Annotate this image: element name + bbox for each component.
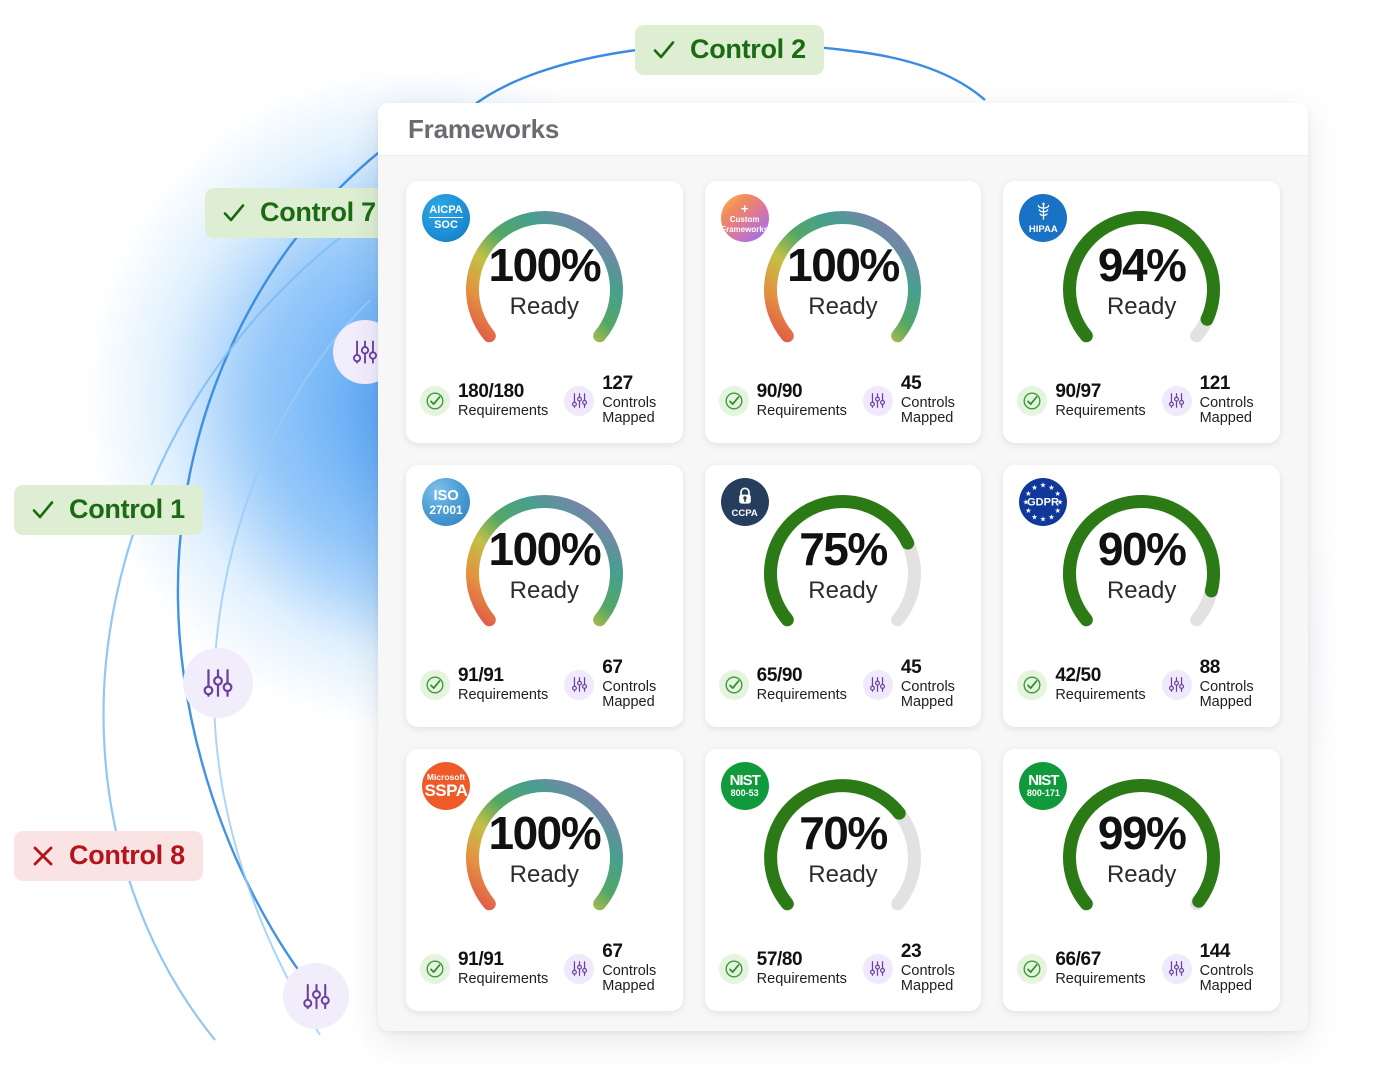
card-stats: 180/180Requirements127Controls Mapped (420, 374, 671, 427)
requirements-label: Requirements (1055, 972, 1145, 988)
card-stats: 91/91Requirements67Controls Mapped (420, 942, 671, 995)
requirements-value: 42/50 (1055, 666, 1145, 687)
framework-card-iso-27001[interactable]: ISO27001100%Ready91/91Requirements67Cont… (406, 465, 683, 727)
requirements-value: 57/80 (757, 950, 847, 971)
requirements-label: Requirements (1055, 404, 1145, 420)
gauge: 100%Ready (420, 761, 669, 953)
requirements-label: Requirements (1055, 688, 1145, 704)
gauge-ready-label: Ready (457, 295, 632, 319)
control-badge-label: Control 8 (69, 840, 185, 871)
requirements-check-icon (1017, 386, 1047, 416)
control-badge-label: Control 7 (260, 197, 376, 228)
controls-mapped-value: 45 (901, 374, 969, 395)
requirements-check-icon (719, 670, 749, 700)
stat-controls-mapped: 45Controls Mapped (863, 658, 969, 711)
check-icon (651, 37, 677, 63)
requirements-check-icon (1017, 670, 1047, 700)
stat-controls-mapped: 67Controls Mapped (564, 658, 670, 711)
card-stats: 57/80Requirements23Controls Mapped (719, 942, 970, 995)
gauge-percent: 94% (1054, 242, 1229, 288)
requirements-check-icon (719, 386, 749, 416)
gauge: 100%Ready (420, 193, 669, 385)
controls-mapped-label: Controls Mapped (901, 396, 969, 427)
controls-mapped-value: 67 (602, 942, 670, 963)
requirements-value: 180/180 (458, 382, 548, 403)
controls-mapped-value: 23 (901, 942, 969, 963)
gauge-percent: 99% (1054, 810, 1229, 856)
gauge-ready-label: Ready (1054, 863, 1229, 887)
controls-mapped-sliders-icon (1162, 954, 1192, 984)
control-badge-control-7[interactable]: Control 7 (205, 188, 394, 238)
gauge-percent: 70% (755, 810, 930, 856)
control-badge-label: Control 2 (690, 34, 806, 65)
gauge-ready-label: Ready (457, 863, 632, 887)
controls-mapped-value: 127 (602, 374, 670, 395)
requirements-label: Requirements (458, 404, 548, 420)
stat-requirements: 90/90Requirements (719, 374, 847, 427)
gauge-ready-label: Ready (755, 579, 930, 603)
controls-mapped-sliders-icon (564, 670, 594, 700)
framework-card-ccpa[interactable]: CCPA75%Ready65/90Requirements45Controls … (705, 465, 982, 727)
control-badge-label: Control 1 (69, 494, 185, 525)
stat-controls-mapped: 67Controls Mapped (564, 942, 670, 995)
framework-card-gdpr[interactable]: ★★★★★★★★★★★★GDPR90%Ready42/50Requirement… (1003, 465, 1280, 727)
controls-mapped-label: Controls Mapped (901, 964, 969, 995)
check-icon (30, 497, 56, 523)
controls-mapped-sliders-icon (1162, 670, 1192, 700)
gauge-percent: 100% (457, 526, 632, 572)
requirements-check-icon (1017, 954, 1047, 984)
card-stats: 65/90Requirements45Controls Mapped (719, 658, 970, 711)
controls-mapped-sliders-icon (564, 386, 594, 416)
check-icon (221, 200, 247, 226)
card-stats: 90/90Requirements45Controls Mapped (719, 374, 970, 427)
gauge-ready-label: Ready (457, 579, 632, 603)
cross-icon (30, 843, 56, 869)
stat-controls-mapped: 127Controls Mapped (564, 374, 670, 427)
framework-card-nist-800-53[interactable]: NIST800-5370%Ready57/80Requirements23Con… (705, 749, 982, 1011)
controls-sliders-chip[interactable] (183, 648, 253, 718)
stat-controls-mapped: 144Controls Mapped (1162, 942, 1268, 995)
framework-card-aicpa-soc[interactable]: AICPASOC100%Ready180/180Requirements127C… (406, 181, 683, 443)
controls-mapped-value: 45 (901, 658, 969, 679)
requirements-label: Requirements (458, 688, 548, 704)
stat-requirements: 180/180Requirements (420, 374, 548, 427)
requirements-value: 91/91 (458, 950, 548, 971)
controls-mapped-sliders-icon (863, 386, 893, 416)
frameworks-grid: AICPASOC100%Ready180/180Requirements127C… (378, 156, 1308, 1031)
requirements-label: Requirements (757, 688, 847, 704)
card-stats: 66/67Requirements144Controls Mapped (1017, 942, 1268, 995)
controls-mapped-label: Controls Mapped (901, 680, 969, 711)
controls-mapped-value: 88 (1200, 658, 1268, 679)
requirements-label: Requirements (757, 404, 847, 420)
stat-requirements: 57/80Requirements (719, 942, 847, 995)
stat-controls-mapped: 121Controls Mapped (1162, 374, 1268, 427)
gauge: 70%Ready (719, 761, 968, 953)
requirements-check-icon (420, 954, 450, 984)
control-badge-control-8[interactable]: Control 8 (14, 831, 203, 881)
requirements-label: Requirements (458, 972, 548, 988)
gauge-ready-label: Ready (1054, 579, 1229, 603)
gauge-percent: 90% (1054, 526, 1229, 572)
control-badge-control-1[interactable]: Control 1 (14, 485, 203, 535)
gauge: 94%Ready (1017, 193, 1266, 385)
framework-card-hipaa[interactable]: HIPAA94%Ready90/97Requirements121Control… (1003, 181, 1280, 443)
stat-requirements: 65/90Requirements (719, 658, 847, 711)
page-title: Frameworks (408, 114, 559, 145)
controls-sliders-chip[interactable] (283, 963, 349, 1029)
requirements-check-icon (420, 670, 450, 700)
controls-mapped-value: 67 (602, 658, 670, 679)
gauge: 75%Ready (719, 477, 968, 669)
controls-mapped-label: Controls Mapped (602, 680, 670, 711)
gauge-percent: 100% (755, 242, 930, 288)
requirements-value: 91/91 (458, 666, 548, 687)
gauge: 100%Ready (420, 477, 669, 669)
requirements-check-icon (420, 386, 450, 416)
framework-card-nist-800-171[interactable]: NIST800-17199%Ready66/67Requirements144C… (1003, 749, 1280, 1011)
gauge: 99%Ready (1017, 761, 1266, 953)
frameworks-panel: Frameworks AICPASOC100%Ready180/180Requi… (378, 103, 1308, 1031)
gauge-ready-label: Ready (755, 295, 930, 319)
gauge-percent: 100% (457, 242, 632, 288)
screenshot-root: Control 2 Control 7 Control 1 Control 8 (0, 0, 1393, 1080)
stat-requirements: 91/91Requirements (420, 942, 548, 995)
gauge-percent: 75% (755, 526, 930, 572)
gauge-ready-label: Ready (1054, 295, 1229, 319)
requirements-value: 65/90 (757, 666, 847, 687)
requirements-value: 90/97 (1055, 382, 1145, 403)
stat-controls-mapped: 23Controls Mapped (863, 942, 969, 995)
controls-mapped-value: 144 (1200, 942, 1268, 963)
stat-requirements: 91/91Requirements (420, 658, 548, 711)
gauge-percent: 100% (457, 810, 632, 856)
framework-card-custom-frameworks[interactable]: +CustomFrameworks100%Ready90/90Requireme… (705, 181, 982, 443)
sliders-icon (300, 980, 333, 1013)
requirements-label: Requirements (757, 972, 847, 988)
requirements-value: 66/67 (1055, 950, 1145, 971)
controls-mapped-label: Controls Mapped (602, 396, 670, 427)
controls-mapped-sliders-icon (564, 954, 594, 984)
controls-mapped-label: Controls Mapped (1200, 396, 1268, 427)
card-stats: 91/91Requirements67Controls Mapped (420, 658, 671, 711)
requirements-check-icon (719, 954, 749, 984)
gauge: 100%Ready (719, 193, 968, 385)
controls-mapped-label: Controls Mapped (1200, 964, 1268, 995)
sliders-icon (200, 665, 236, 701)
stat-controls-mapped: 88Controls Mapped (1162, 658, 1268, 711)
card-stats: 42/50Requirements88Controls Mapped (1017, 658, 1268, 711)
gauge-ready-label: Ready (755, 863, 930, 887)
controls-mapped-label: Controls Mapped (602, 964, 670, 995)
card-stats: 90/97Requirements121Controls Mapped (1017, 374, 1268, 427)
controls-mapped-sliders-icon (863, 954, 893, 984)
sliders-icon (350, 337, 380, 367)
controls-mapped-label: Controls Mapped (1200, 680, 1268, 711)
stat-requirements: 42/50Requirements (1017, 658, 1145, 711)
controls-mapped-value: 121 (1200, 374, 1268, 395)
stat-requirements: 90/97Requirements (1017, 374, 1145, 427)
control-badge-control-2[interactable]: Control 2 (635, 25, 824, 75)
gauge: 90%Ready (1017, 477, 1266, 669)
panel-header: Frameworks (378, 103, 1308, 156)
controls-mapped-sliders-icon (863, 670, 893, 700)
controls-mapped-sliders-icon (1162, 386, 1192, 416)
stat-requirements: 66/67Requirements (1017, 942, 1145, 995)
stat-controls-mapped: 45Controls Mapped (863, 374, 969, 427)
requirements-value: 90/90 (757, 382, 847, 403)
framework-card-microsoft-sspa[interactable]: MicrosoftSSPA100%Ready91/91Requirements6… (406, 749, 683, 1011)
